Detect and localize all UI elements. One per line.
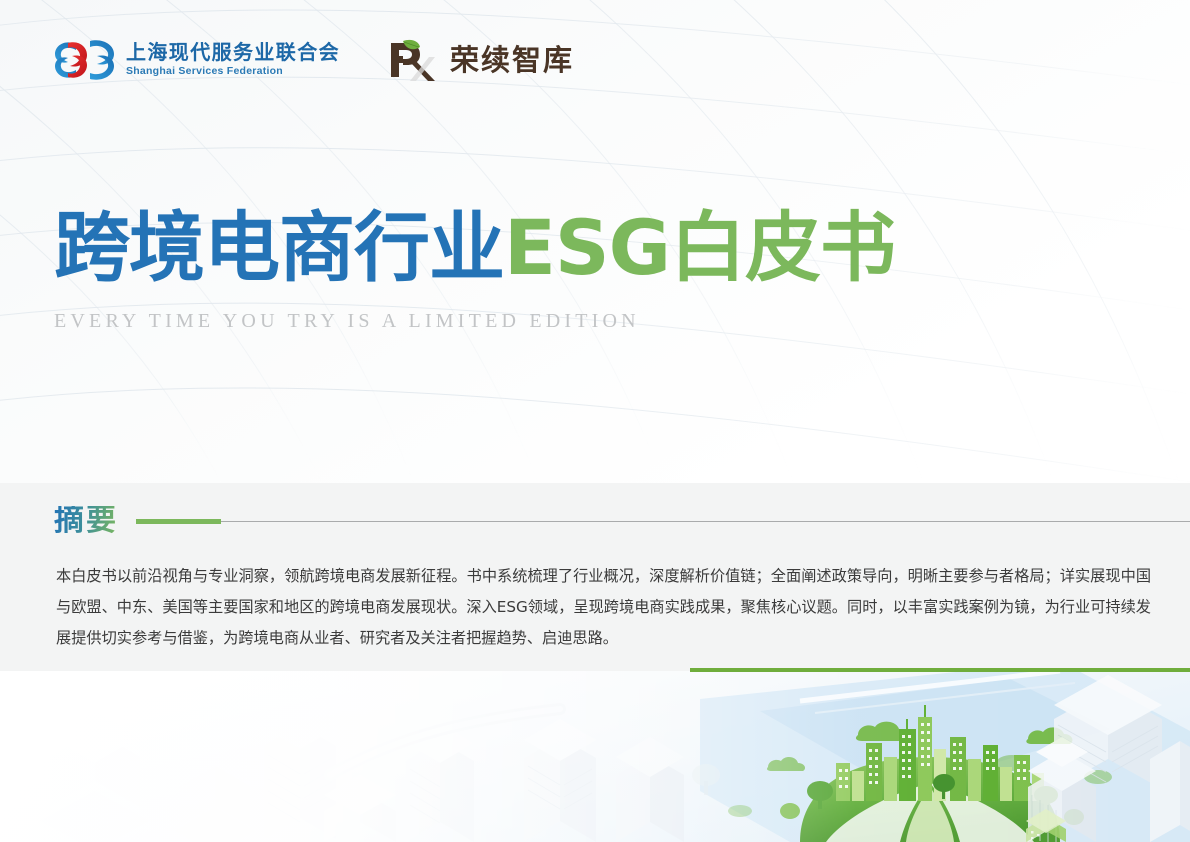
ssf-text-block: 上海现代服务业联合会 Shanghai Services Federation (126, 41, 340, 79)
hero-block: 跨境电商行业ESG白皮书 EVERY TIME YOU TRY IS A LIM… (54, 208, 895, 333)
rx-name-cn: 荣续智库 (450, 46, 574, 75)
abstract-body-text: 本白皮书以前沿视角与专业洞察，领航跨境电商发展新征程。书中系统梳理了行业概况，深… (56, 561, 1151, 654)
ssf-name-cn: 上海现代服务业联合会 (126, 41, 340, 64)
logo-rongxu-think-tank: 荣续智库 (384, 39, 574, 81)
infinity-butterfly-mark (54, 38, 116, 82)
abstract-heading-rule (136, 516, 1154, 526)
abstract-heading: 摘要 (54, 506, 118, 536)
abstract-rule-gray (221, 521, 1190, 522)
cityscape-svg (0, 671, 1190, 842)
whitepaper-cover-page: 上海现代服务业联合会 Shanghai Services Federation … (0, 0, 1190, 842)
rx-leaf-icon (384, 39, 438, 81)
abstract-bottom-green-rule (690, 668, 1190, 672)
abstract-heading-row: 摘要 (54, 506, 1154, 536)
ssf-name-en: Shanghai Services Federation (126, 65, 340, 79)
cityscape-illustration (0, 671, 1190, 842)
logo-shanghai-services-federation: 上海现代服务业联合会 Shanghai Services Federation (54, 38, 340, 82)
page-tagline: EVERY TIME YOU TRY IS A LIMITED EDITION (54, 310, 895, 333)
page-title: 跨境电商行业ESG白皮书 (54, 208, 895, 288)
page-title-part-green: ESG白皮书 (504, 203, 895, 292)
abstract-rule-green (136, 519, 221, 524)
logo-bar: 上海现代服务业联合会 Shanghai Services Federation … (54, 38, 574, 82)
page-title-part-blue: 跨境电商行业 (54, 203, 504, 292)
